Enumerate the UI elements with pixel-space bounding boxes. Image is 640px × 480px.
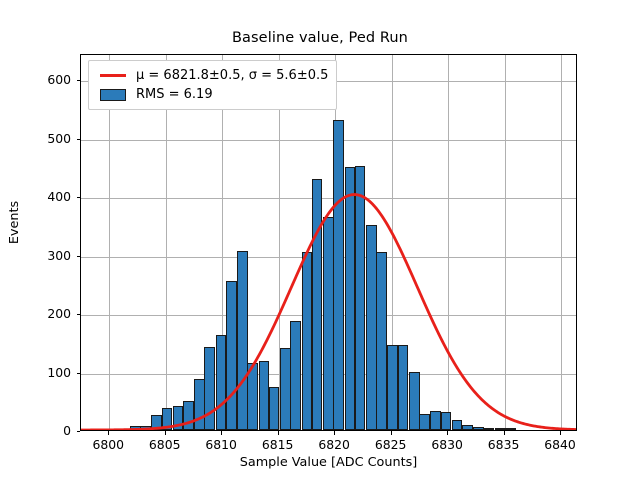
x-tick-label: 6805 <box>135 437 195 452</box>
x-axis-label: Sample Value [ADC Counts] <box>80 455 577 470</box>
y-tick-mark <box>77 373 81 374</box>
x-tick-mark <box>391 431 392 435</box>
x-tick-label: 6810 <box>191 437 251 452</box>
x-tick-mark <box>447 431 448 435</box>
y-tick-label: 500 <box>11 131 71 146</box>
x-tick-label: 6840 <box>530 437 590 452</box>
x-tick-mark <box>165 431 166 435</box>
x-tick-label: 6830 <box>417 437 477 452</box>
x-tick-mark <box>504 431 505 435</box>
x-tick-label: 6820 <box>304 437 364 452</box>
y-tick-label: 600 <box>11 72 71 87</box>
y-tick-mark <box>77 80 81 81</box>
legend-label-hist: RMS = 6.19 <box>130 87 213 102</box>
x-tick-mark <box>108 431 109 435</box>
y-tick-label: 100 <box>11 365 71 380</box>
x-tick-mark <box>560 431 561 435</box>
y-tick-label: 300 <box>11 248 71 263</box>
legend-item-hist: RMS = 6.19 <box>96 85 328 104</box>
legend-patch-swatch <box>96 89 130 101</box>
y-tick-mark <box>77 139 81 140</box>
x-tick-label: 6835 <box>474 437 534 452</box>
x-tick-mark <box>334 431 335 435</box>
fit-path <box>81 195 576 430</box>
x-tick-label: 6800 <box>78 437 138 452</box>
y-tick-mark <box>77 256 81 257</box>
y-tick-mark <box>77 197 81 198</box>
y-axis-label: Events <box>7 201 22 244</box>
legend-item-fit: μ = 6821.8±0.5, σ = 5.6±0.5 <box>96 66 328 85</box>
chart-figure: Baseline value, Ped Run 6800680568106815… <box>0 0 640 480</box>
y-tick-label: 200 <box>11 306 71 321</box>
x-tick-label: 6825 <box>361 437 421 452</box>
legend-label-fit: μ = 6821.8±0.5, σ = 5.6±0.5 <box>130 68 328 83</box>
gaussian-fit-curve <box>81 55 576 430</box>
y-tick-mark <box>77 314 81 315</box>
y-tick-label: 0 <box>11 423 71 438</box>
x-tick-mark <box>278 431 279 435</box>
legend-line-swatch <box>96 74 130 77</box>
y-tick-mark <box>77 431 81 432</box>
x-tick-mark <box>221 431 222 435</box>
plot-area <box>80 54 577 431</box>
chart-title: Baseline value, Ped Run <box>0 30 640 46</box>
x-tick-label: 6815 <box>248 437 308 452</box>
legend: μ = 6821.8±0.5, σ = 5.6±0.5 RMS = 6.19 <box>88 60 337 110</box>
